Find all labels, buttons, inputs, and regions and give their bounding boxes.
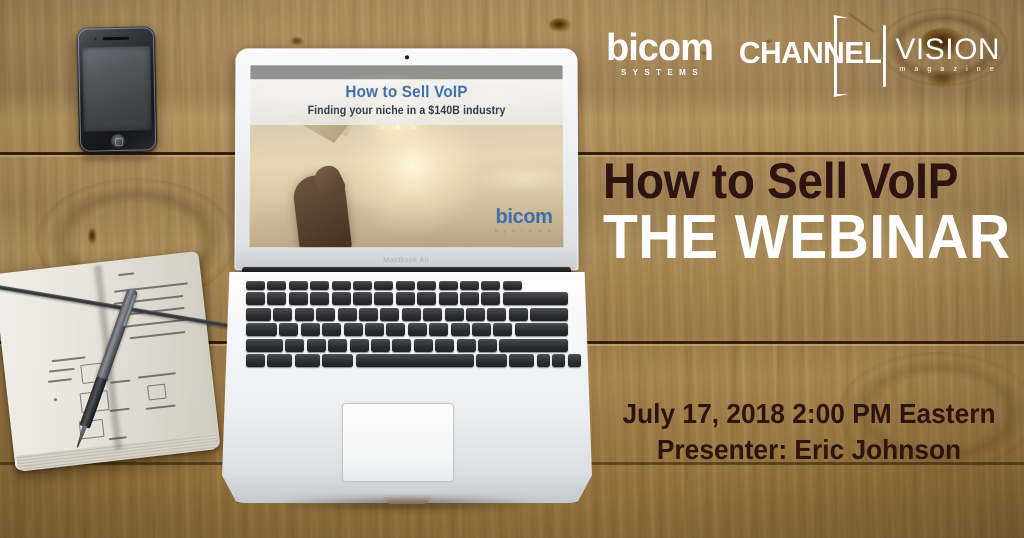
slide-subtitle: Finding your niche in a $140B industry — [263, 105, 551, 117]
webcam-icon — [405, 55, 409, 59]
laptop: How to Sell VoIP Finding your niche in a… — [222, 48, 592, 503]
slide-bicom-logo: bicom s y s t e m s — [495, 207, 554, 233]
smartphone — [77, 26, 158, 153]
keyboard-row-home — [246, 323, 568, 336]
laptop-keyboard — [246, 281, 568, 390]
channelvision-vision-block: VISION m a g a z i n e — [895, 35, 1000, 73]
keyboard-row-function — [246, 281, 568, 290]
keyboard-row-numbers — [246, 292, 568, 305]
keyboard-row-modifiers — [246, 354, 568, 367]
channelvision-vision-word: VISION — [895, 35, 1000, 65]
laptop-shadow — [216, 496, 598, 522]
keyboard-row-qwerty — [246, 308, 568, 321]
event-presenter: Presenter: Eric Johnson — [615, 432, 1002, 468]
keyboard-row-shift — [246, 339, 568, 352]
channelvision-magazine-tagline: m a g a z i n e — [899, 66, 997, 73]
headline-secondary: THE WEBINAR — [603, 206, 982, 269]
laptop-lid: How to Sell VoIP Finding your niche in a… — [234, 48, 578, 270]
bicom-wordmark: bicom — [606, 31, 713, 66]
channelvision-logo: CHANNEL VISION m a g a z i n e — [739, 28, 1000, 80]
pen-tip — [75, 425, 87, 448]
hand — [291, 172, 352, 247]
slide-bicom-tagline: s y s t e m s — [495, 228, 553, 233]
headline-block: How to Sell VoIP THE WEBINAR — [603, 157, 1015, 269]
event-datetime: July 17, 2018 2:00 PM Eastern — [615, 396, 1002, 432]
slide-title: How to Sell VoIP — [266, 82, 547, 102]
laptop-screen: How to Sell VoIP Finding your niche in a… — [250, 65, 564, 247]
channelvision-frame-icon — [834, 15, 886, 97]
sketch-box — [147, 384, 167, 401]
event-details-block: July 17, 2018 2:00 PM Eastern Presenter:… — [603, 396, 1015, 468]
bicom-logo: bicom SYSTEMS — [606, 31, 713, 77]
headline-primary: How to Sell VoIP — [603, 157, 982, 205]
presentation-slide: How to Sell VoIP Finding your niche in a… — [250, 65, 564, 247]
open-notebook — [0, 251, 221, 471]
brand-logo-row: bicom SYSTEMS CHANNEL VISION m a g a z i… — [606, 26, 1000, 82]
phone-screen — [82, 46, 152, 131]
slide-top-band — [250, 65, 562, 79]
bicom-tagline: SYSTEMS — [621, 68, 704, 77]
promo-banner: How to Sell VoIP Finding your niche in a… — [0, 0, 1024, 538]
slide-bicom-wordmark: bicom — [495, 207, 553, 227]
phone-earpiece-speaker — [103, 37, 129, 41]
phone-front-camera — [94, 37, 97, 40]
laptop-model-label: MacBook Air — [234, 255, 578, 264]
laptop-trackpad — [342, 403, 454, 482]
